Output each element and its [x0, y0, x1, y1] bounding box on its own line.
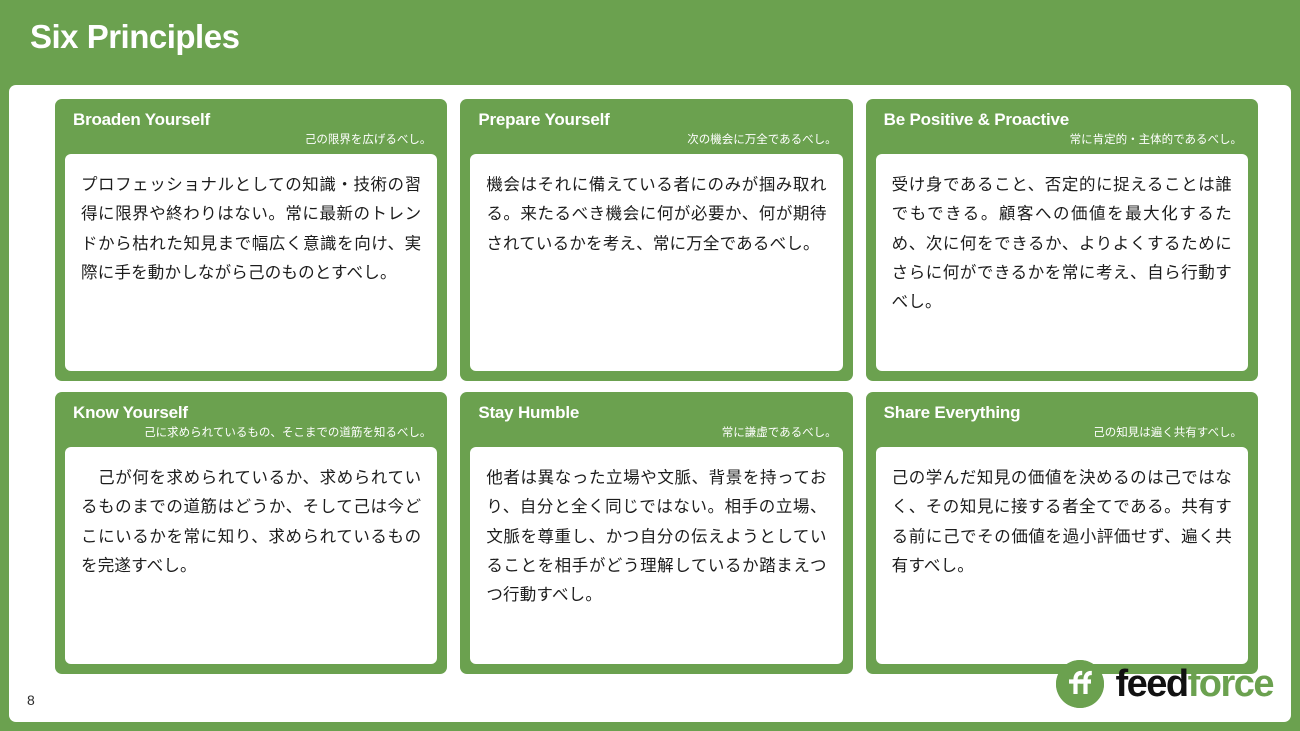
card-header: Stay Humble 常に謙虚であるべし。 — [470, 404, 842, 439]
card-subtitle: 己の知見は遍く共有すべし。 — [884, 426, 1242, 439]
principle-card-prepare-yourself[interactable]: Prepare Yourself 次の機会に万全であるべし。 機会はそれに備えて… — [460, 99, 852, 381]
card-title: Share Everything — [884, 404, 1242, 423]
card-title: Stay Humble — [478, 404, 836, 423]
card-body-text: 己が何を求められているか、求められているものまでの道筋はどうか、そして己は今どこ… — [81, 463, 421, 580]
page-number: 8 — [27, 692, 35, 708]
feedforce-logo: feedforce — [1056, 658, 1273, 710]
card-header: Broaden Yourself 己の限界を広げるべし。 — [65, 111, 437, 146]
card-header: Know Yourself 己に求められているもの、そこまでの道筋を知るべし。 — [65, 404, 437, 439]
card-title: Be Positive & Proactive — [884, 111, 1242, 130]
card-body: 己の学んだ知見の価値を決めるのは己ではなく、その知見に接する者全てである。共有す… — [876, 447, 1248, 664]
content-panel: Broaden Yourself 己の限界を広げるべし。 プロフェッショナルとし… — [9, 85, 1291, 722]
principles-grid: Broaden Yourself 己の限界を広げるべし。 プロフェッショナルとし… — [55, 99, 1258, 674]
card-subtitle: 次の機会に万全であるべし。 — [478, 133, 836, 146]
card-title: Know Yourself — [73, 404, 431, 423]
principle-card-stay-humble[interactable]: Stay Humble 常に謙虚であるべし。 他者は異なった立場や文脈、背景を持… — [460, 392, 852, 674]
card-body-text: 他者は異なった立場や文脈、背景を持っており、自分と全く同じではない。相手の立場、… — [486, 463, 826, 610]
ff-monogram-icon — [1056, 660, 1104, 708]
logo-word-force: force — [1188, 663, 1273, 705]
card-body-text: 機会はそれに備えている者にのみが掴み取れる。来たるべき機会に何が必要か、何が期待… — [486, 170, 826, 258]
card-body: プロフェッショナルとしての知識・技術の習得に限界や終わりはない。常に最新のトレン… — [65, 154, 437, 371]
card-header: Share Everything 己の知見は遍く共有すべし。 — [876, 404, 1248, 439]
card-subtitle: 己に求められているもの、そこまでの道筋を知るべし。 — [73, 426, 431, 439]
card-body: 受け身であること、否定的に捉えることは誰でもできる。顧客への価値を最大化するため… — [876, 154, 1248, 371]
principle-card-know-yourself[interactable]: Know Yourself 己に求められているもの、そこまでの道筋を知るべし。 … — [55, 392, 447, 674]
logo-word-feed: feed — [1115, 663, 1187, 705]
card-body: 他者は異なった立場や文脈、背景を持っており、自分と全く同じではない。相手の立場、… — [470, 447, 842, 664]
card-title: Prepare Yourself — [478, 111, 836, 130]
card-body-text: プロフェッショナルとしての知識・技術の習得に限界や終わりはない。常に最新のトレン… — [81, 170, 421, 287]
card-body: 己が何を求められているか、求められているものまでの道筋はどうか、そして己は今どこ… — [65, 447, 437, 664]
card-body: 機会はそれに備えている者にのみが掴み取れる。来たるべき機会に何が必要か、何が期待… — [470, 154, 842, 371]
page-title: Six Principles — [30, 20, 239, 53]
card-subtitle: 己の限界を広げるべし。 — [73, 133, 431, 146]
card-body-text: 受け身であること、否定的に捉えることは誰でもできる。顧客への価値を最大化するため… — [892, 170, 1232, 317]
card-body-text: 己の学んだ知見の価値を決めるのは己ではなく、その知見に接する者全てである。共有す… — [892, 463, 1232, 580]
card-subtitle: 常に謙虚であるべし。 — [478, 426, 836, 439]
logo-wordmark: feedforce — [1115, 665, 1273, 703]
card-header: Prepare Yourself 次の機会に万全であるべし。 — [470, 111, 842, 146]
card-header: Be Positive & Proactive 常に肯定的・主体的であるべし。 — [876, 111, 1248, 146]
card-subtitle: 常に肯定的・主体的であるべし。 — [884, 133, 1242, 146]
principle-card-be-positive-and-proactive[interactable]: Be Positive & Proactive 常に肯定的・主体的であるべし。 … — [866, 99, 1258, 381]
principle-card-broaden-yourself[interactable]: Broaden Yourself 己の限界を広げるべし。 プロフェッショナルとし… — [55, 99, 447, 381]
card-title: Broaden Yourself — [73, 111, 431, 130]
principle-card-share-everything[interactable]: Share Everything 己の知見は遍く共有すべし。 己の学んだ知見の価… — [866, 392, 1258, 674]
